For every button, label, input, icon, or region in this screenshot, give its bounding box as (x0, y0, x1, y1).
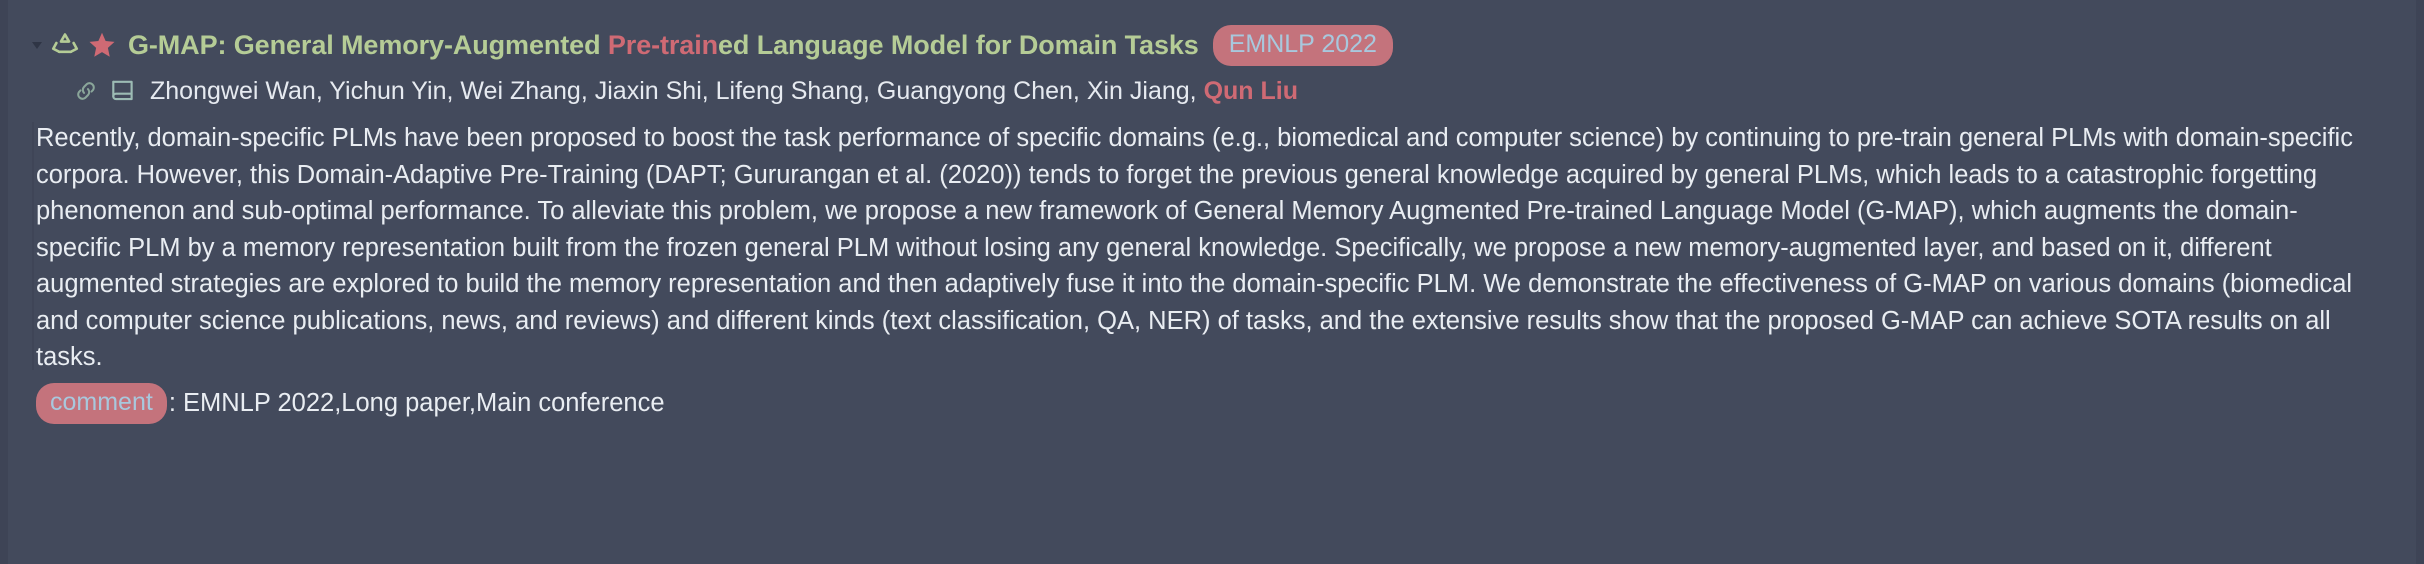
author-name[interactable]: Yichun Yin (329, 77, 446, 105)
title-segment-plain-1: G-MAP: General Memory-Augmented (128, 30, 608, 60)
title-row: G-MAP: General Memory-Augmented Pre-trai… (0, 22, 2424, 68)
author-separator: , (1073, 77, 1087, 105)
author-list: Zhongwei Wan, Yichun Yin, Wei Zhang, Jia… (150, 79, 1298, 104)
recycle-icon[interactable] (48, 28, 82, 62)
author-separator: , (316, 77, 329, 105)
author-name[interactable]: Guangyong Chen (877, 77, 1073, 105)
author-name[interactable]: Lifeng Shang (716, 77, 863, 105)
abstract-block: Recently, domain-specific PLMs have been… (0, 120, 2424, 376)
venue-badge: EMNLP 2022 (1213, 25, 1393, 66)
comment-row: comment : EMNLP 2022,Long paper,Main con… (0, 382, 2424, 426)
page-title[interactable]: G-MAP: General Memory-Augmented Pre-trai… (128, 32, 1199, 59)
paper-entry: G-MAP: General Memory-Augmented Pre-trai… (0, 0, 2424, 426)
abstract-text: Recently, domain-specific PLMs have been… (36, 120, 2366, 376)
author-name[interactable]: Xin Jiang (1087, 77, 1190, 105)
author-separator: , (581, 77, 595, 105)
author-separator: , (1190, 77, 1204, 105)
comment-value: : EMNLP 2022,Long paper,Main conference (169, 389, 665, 418)
star-icon[interactable] (86, 29, 118, 61)
title-segment-highlight: Pre-train (608, 30, 718, 60)
author-row: Zhongwei Wan, Yichun Yin, Wei Zhang, Jia… (0, 70, 2424, 112)
author-name[interactable]: Wei Zhang (460, 77, 580, 105)
author-separator: , (702, 77, 716, 105)
triangle-down-icon[interactable] (26, 37, 48, 53)
author-name[interactable]: Qun Liu (1204, 77, 1298, 105)
author-separator: , (863, 77, 877, 105)
abstract-left-rule (32, 122, 34, 370)
comment-badge: comment (36, 383, 167, 424)
author-name[interactable]: Jiaxin Shi (595, 77, 702, 105)
author-name[interactable]: Zhongwei Wan (150, 77, 316, 105)
author-separator: , (447, 77, 461, 105)
title-segment-plain-2: ed Language Model for Domain Tasks (718, 30, 1199, 60)
paper-entry-panel: G-MAP: General Memory-Augmented Pre-trai… (0, 0, 2424, 564)
link-icon[interactable] (72, 77, 100, 105)
book-icon[interactable] (108, 77, 138, 105)
